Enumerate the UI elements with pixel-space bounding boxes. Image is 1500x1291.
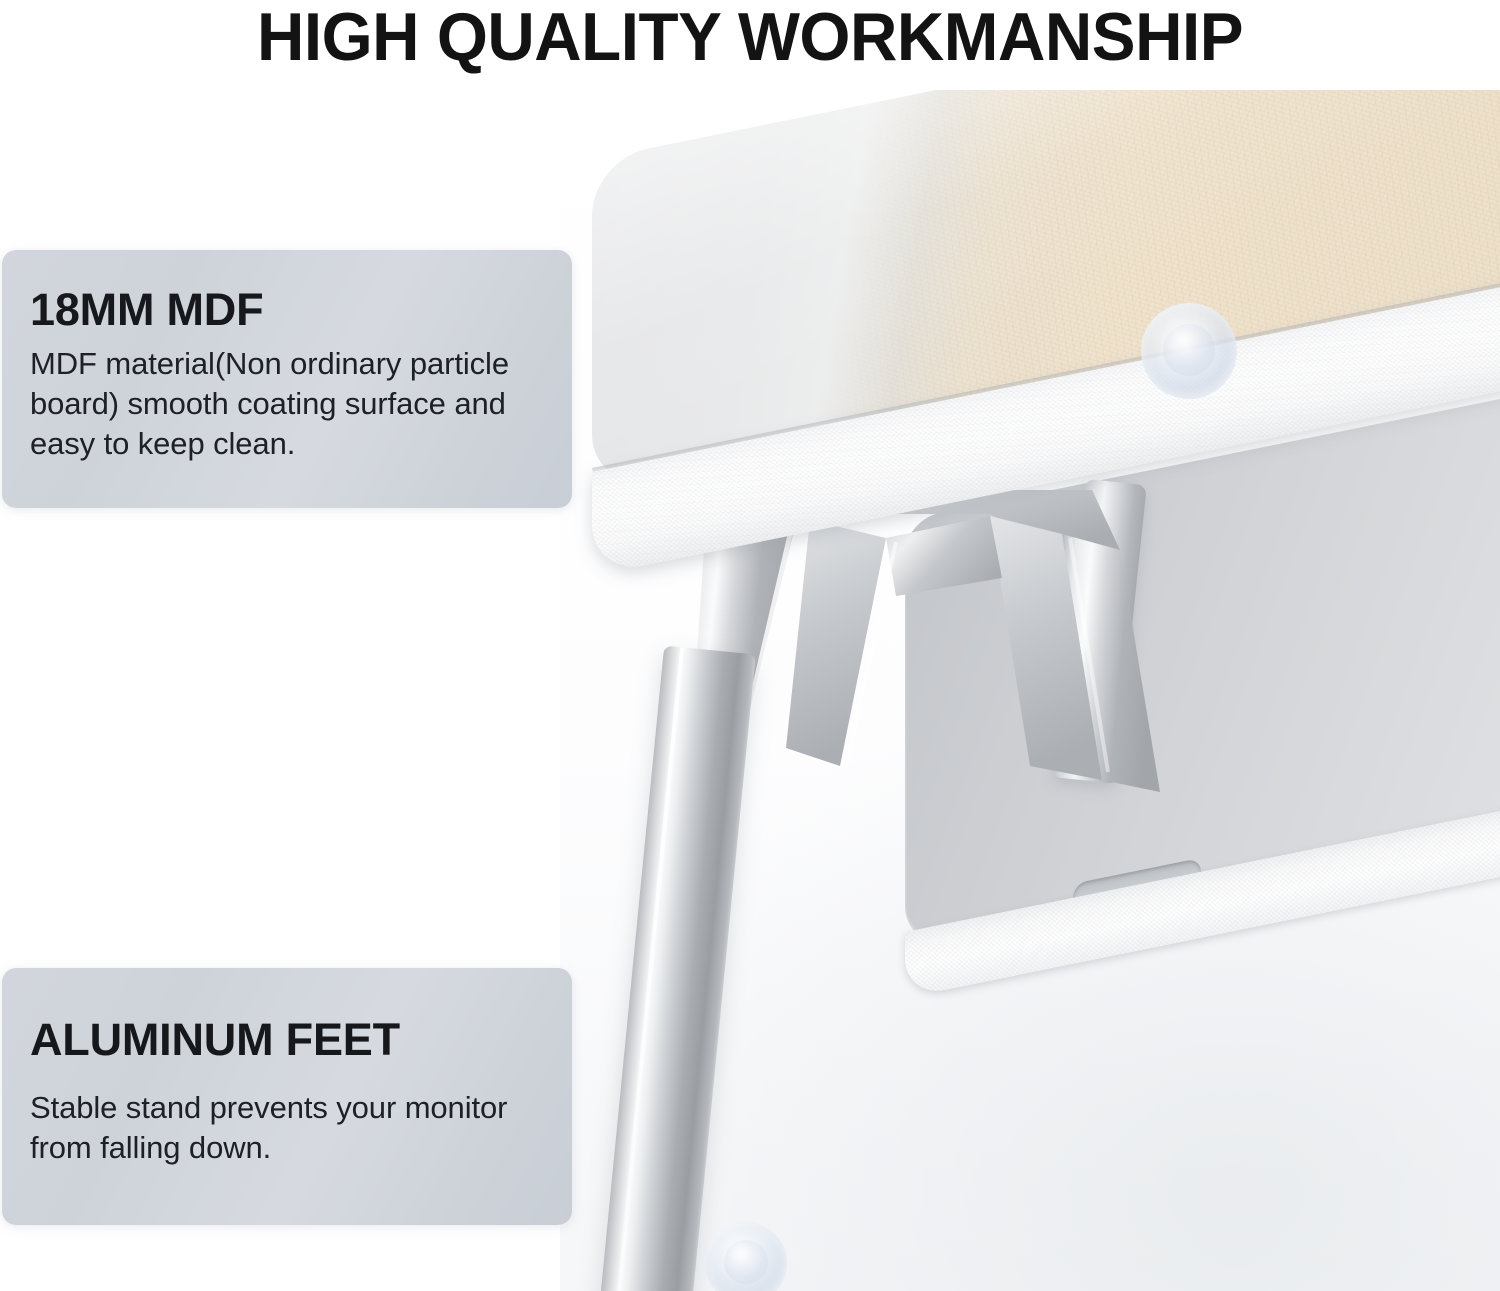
callout-card-aluminum-feet: ALUMINUM FEET Stable stand prevents your…: [2, 968, 572, 1225]
callout-card-mdf: 18MM MDF MDF material(Non ordinary parti…: [2, 250, 572, 508]
callout-title-mdf: 18MM MDF: [30, 284, 544, 336]
silicone-bumper-icon: [1141, 303, 1237, 399]
callout-title-aluminum-feet: ALUMINUM FEET: [30, 1014, 544, 1066]
page-title: HIGH QUALITY WORKMANSHIP: [26, 0, 1474, 74]
callout-body-mdf: MDF material(Non ordinary particle board…: [30, 344, 544, 464]
callout-body-aluminum-feet: Stable stand prevents your monitor from …: [30, 1088, 544, 1168]
